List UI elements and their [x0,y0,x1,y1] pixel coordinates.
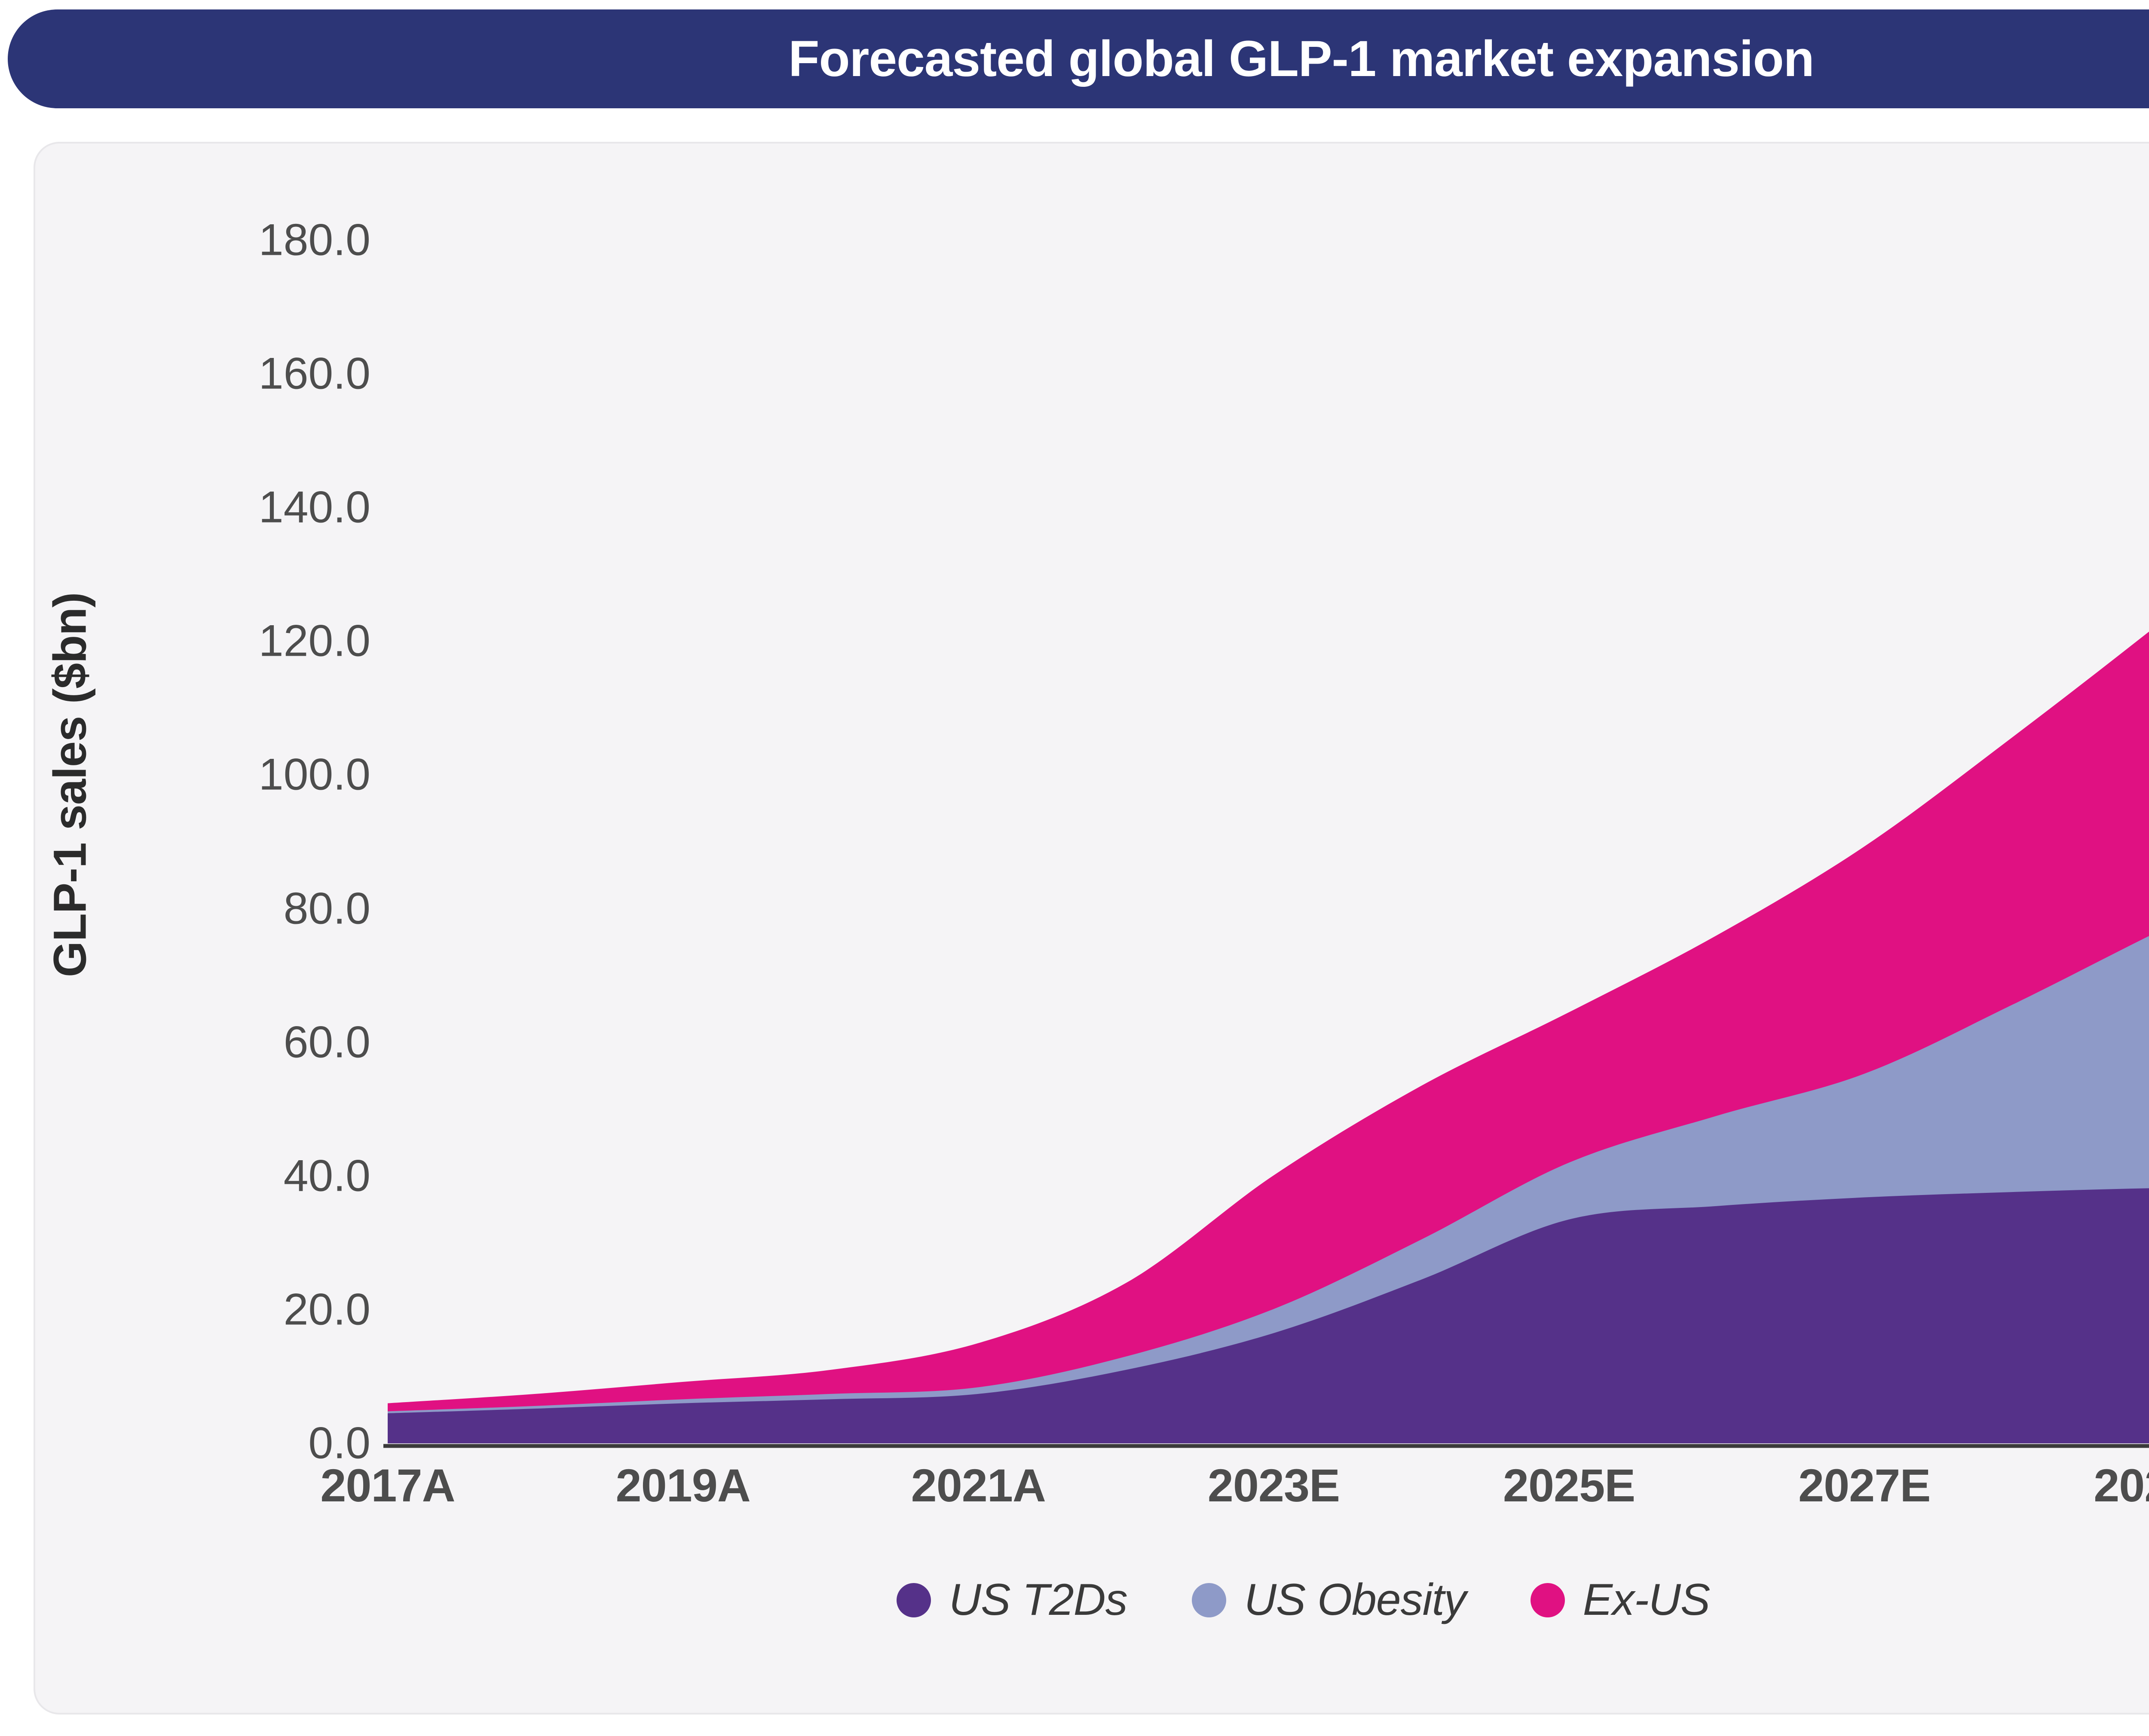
chart-page: Forecasted global GLP-1 market expansion… [0,0,2149,1736]
legend-label: US T2Ds [949,1574,1127,1626]
x-tick-label: 2029E [2094,1458,2149,1512]
x-axis-ticks: 2017A2019A2021A2023E2025E2027E2029E2031E [35,1458,2149,1536]
legend-item[interactable]: US T2Ds [897,1574,1127,1626]
x-tick-label: 2019A [616,1458,750,1512]
chart-card: GLP-1 sales ($bn) 0.020.040.060.080.0100… [34,142,2149,1715]
legend-item[interactable]: US Obesity [1192,1574,1466,1626]
legend-swatch-icon [1192,1583,1226,1617]
plot-area: GLP-1 sales ($bn) 0.020.040.060.080.0100… [35,144,2149,1716]
x-tick-label: 2021A [911,1458,1046,1512]
legend-label: Ex-US [1583,1574,1710,1626]
x-tick-label: 2027E [1798,1458,1930,1512]
chart-title-bar: Forecasted global GLP-1 market expansion [8,9,2149,108]
x-tick-label: 2025E [1503,1458,1635,1512]
legend-item[interactable]: Ex-US [1531,1574,1710,1626]
x-tick-label: 2017A [320,1458,455,1512]
chart-legend: US T2DsUS ObesityEx-US [35,1574,2149,1626]
legend-swatch-icon [897,1583,931,1617]
x-tick-label: 2023E [1208,1458,1340,1512]
page-title: Forecasted global GLP-1 market expansion [788,34,1814,84]
legend-label: US Obesity [1244,1574,1466,1626]
legend-swatch-icon [1531,1583,1565,1617]
